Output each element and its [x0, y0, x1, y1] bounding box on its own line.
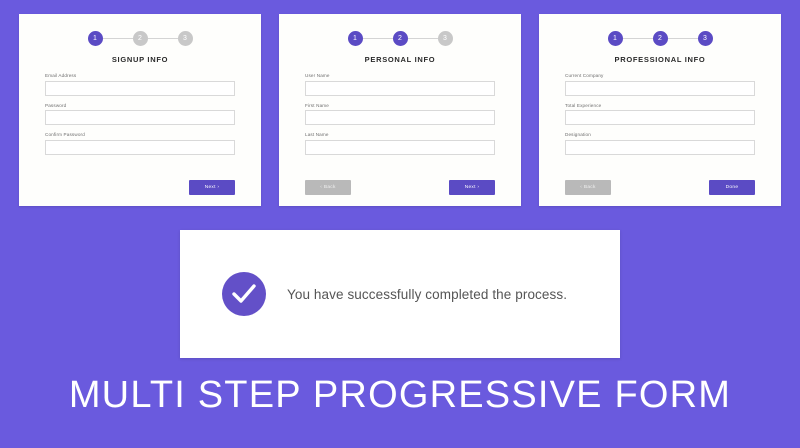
field-label: Last Name — [305, 132, 495, 137]
page-title: MULTI STEP PROGRESSIVE FORM — [0, 372, 800, 418]
card-actions: Next › — [45, 180, 235, 195]
field-label: Confirm Password — [45, 132, 235, 137]
card-title: PERSONAL INFO — [279, 55, 521, 64]
designation-input[interactable] — [565, 140, 755, 155]
field-confirm-password: Confirm Password — [45, 132, 235, 155]
step-connector — [148, 38, 178, 39]
step-dot-1[interactable]: 1 — [88, 31, 103, 46]
step-dot-3[interactable]: 3 — [698, 31, 713, 46]
confirm-password-input[interactable] — [45, 140, 235, 155]
field-label: Designation — [565, 132, 755, 137]
form-fields: Email Address Password Confirm Password — [19, 73, 261, 155]
step-dot-1[interactable]: 1 — [608, 31, 623, 46]
field-email-address: Email Address — [45, 73, 235, 96]
page-root: 1 2 3 SIGNUP INFO Email Address Password… — [0, 0, 800, 448]
step-dot-1[interactable]: 1 — [348, 31, 363, 46]
step-connector — [668, 38, 698, 39]
success-card: You have successfully completed the proc… — [180, 230, 620, 358]
field-label: First Name — [305, 103, 495, 108]
step-dot-3[interactable]: 3 — [438, 31, 453, 46]
password-input[interactable] — [45, 110, 235, 125]
step-dot-3[interactable]: 3 — [178, 31, 193, 46]
email-address-input[interactable] — [45, 81, 235, 96]
field-total-experience: Total Experience — [565, 103, 755, 126]
total-experience-input[interactable] — [565, 110, 755, 125]
step-connector — [103, 38, 133, 39]
success-message: You have successfully completed the proc… — [287, 287, 567, 302]
step-connector — [623, 38, 653, 39]
first-name-input[interactable] — [305, 110, 495, 125]
check-icon — [222, 272, 266, 316]
step-card-signup: 1 2 3 SIGNUP INFO Email Address Password… — [19, 14, 261, 206]
field-label: Password — [45, 103, 235, 108]
current-company-input[interactable] — [565, 81, 755, 96]
back-button[interactable]: ‹ Back — [305, 180, 351, 195]
card-title: PROFESSIONAL INFO — [539, 55, 781, 64]
form-fields: User Name First Name Last Name — [279, 73, 521, 155]
step-card-personal: 1 2 3 PERSONAL INFO User Name First Name… — [279, 14, 521, 206]
field-user-name: User Name — [305, 73, 495, 96]
card-actions: ‹ Back Next › — [305, 180, 495, 195]
step-card-professional: 1 2 3 PROFESSIONAL INFO Current Company … — [539, 14, 781, 206]
field-password: Password — [45, 103, 235, 126]
step-connector — [363, 38, 393, 39]
stepper: 1 2 3 — [539, 27, 781, 49]
field-label: Email Address — [45, 73, 235, 78]
field-last-name: Last Name — [305, 132, 495, 155]
step-connector — [408, 38, 438, 39]
card-actions: ‹ Back Done — [565, 180, 755, 195]
form-fields: Current Company Total Experience Designa… — [539, 73, 781, 155]
field-label: Current Company — [565, 73, 755, 78]
user-name-input[interactable] — [305, 81, 495, 96]
next-button[interactable]: Next › — [189, 180, 235, 195]
next-button[interactable]: Next › — [449, 180, 495, 195]
step-dot-2[interactable]: 2 — [393, 31, 408, 46]
done-button[interactable]: Done — [709, 180, 755, 195]
step-dot-2[interactable]: 2 — [653, 31, 668, 46]
back-button[interactable]: ‹ Back — [565, 180, 611, 195]
field-first-name: First Name — [305, 103, 495, 126]
field-label: User Name — [305, 73, 495, 78]
card-title: SIGNUP INFO — [19, 55, 261, 64]
stepper: 1 2 3 — [19, 27, 261, 49]
field-designation: Designation — [565, 132, 755, 155]
step-dot-2[interactable]: 2 — [133, 31, 148, 46]
field-current-company: Current Company — [565, 73, 755, 96]
step-cards-row: 1 2 3 SIGNUP INFO Email Address Password… — [0, 14, 800, 210]
last-name-input[interactable] — [305, 140, 495, 155]
field-label: Total Experience — [565, 103, 755, 108]
stepper: 1 2 3 — [279, 27, 521, 49]
